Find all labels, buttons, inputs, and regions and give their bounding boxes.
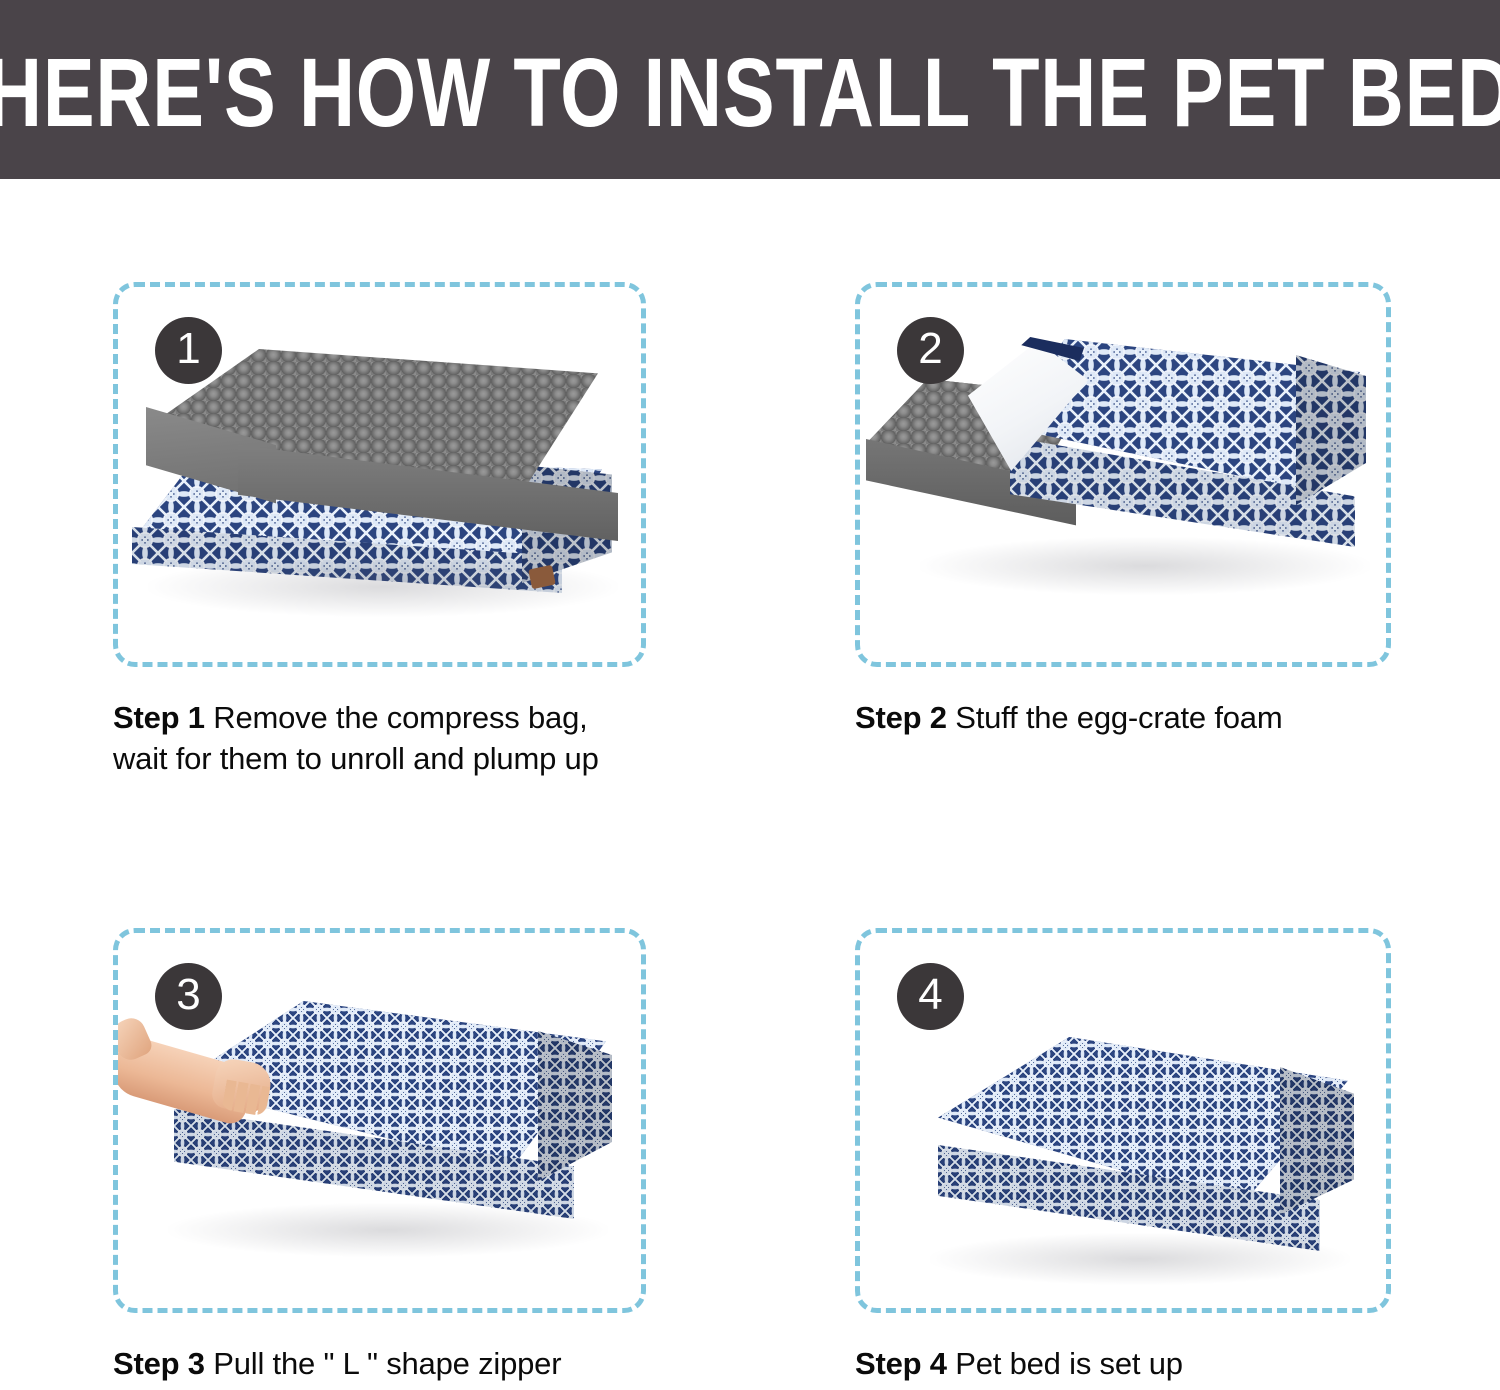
step-2-text: Stuff the egg-crate foam: [947, 700, 1283, 735]
step-3-number: 3: [176, 973, 200, 1017]
header-banner: HERE'S HOW TO INSTALL THE PET BED: [0, 0, 1500, 179]
finished-bed-side: [1280, 1067, 1354, 1215]
step-cell-1: 1 Step 1 Remove the compress bag, wait f…: [113, 282, 646, 779]
step-cell-3: 3 Step 3 Pull the " L " shape zipper: [113, 928, 646, 1384]
step-1-caption: Step 1 Remove the compress bag, wait for…: [113, 697, 646, 779]
step-3-caption: Step 3 Pull the " L " shape zipper: [113, 1343, 646, 1384]
step-2-illustration-box: 2: [855, 282, 1391, 667]
infographic-page: HERE'S HOW TO INSTALL THE PET BED 1: [0, 0, 1500, 1390]
step-1-label: Step 1: [113, 700, 205, 735]
page-title: HERE'S HOW TO INSTALL THE PET BED: [0, 38, 1500, 141]
step-3-illustration-box: 3: [113, 928, 646, 1313]
step-2-label: Step 2: [855, 700, 947, 735]
cover-side: [1296, 355, 1366, 505]
cover-side: [538, 1031, 612, 1181]
step-2-number: 2: [918, 327, 942, 371]
step-1-number: 1: [176, 327, 200, 371]
step-cell-2: 2 Step 2 Stuff the egg-crate foam: [855, 282, 1391, 738]
bed-shadow: [920, 537, 1370, 595]
step-3-text: Pull the " L " shape zipper: [205, 1346, 561, 1381]
step-1-illustration-box: 1: [113, 282, 646, 667]
step-3-label: Step 3: [113, 1346, 205, 1381]
step-4-caption: Step 4 Pet bed is set up: [855, 1343, 1391, 1384]
steps-grid: 1 Step 1 Remove the compress bag, wait f…: [0, 179, 1500, 1390]
step-4-text: Pet bed is set up: [947, 1346, 1183, 1381]
step-1-number-badge: 1: [155, 317, 222, 384]
step-4-label: Step 4: [855, 1346, 947, 1381]
step-4-illustration-box: 4: [855, 928, 1391, 1313]
step-2-number-badge: 2: [897, 317, 964, 384]
step-3-number-badge: 3: [155, 963, 222, 1030]
step-4-number-badge: 4: [897, 963, 964, 1030]
step-cell-4: 4 Step 4 Pet bed is set up: [855, 928, 1391, 1384]
step-4-number: 4: [918, 973, 942, 1017]
step-2-caption: Step 2 Stuff the egg-crate foam: [855, 697, 1391, 738]
